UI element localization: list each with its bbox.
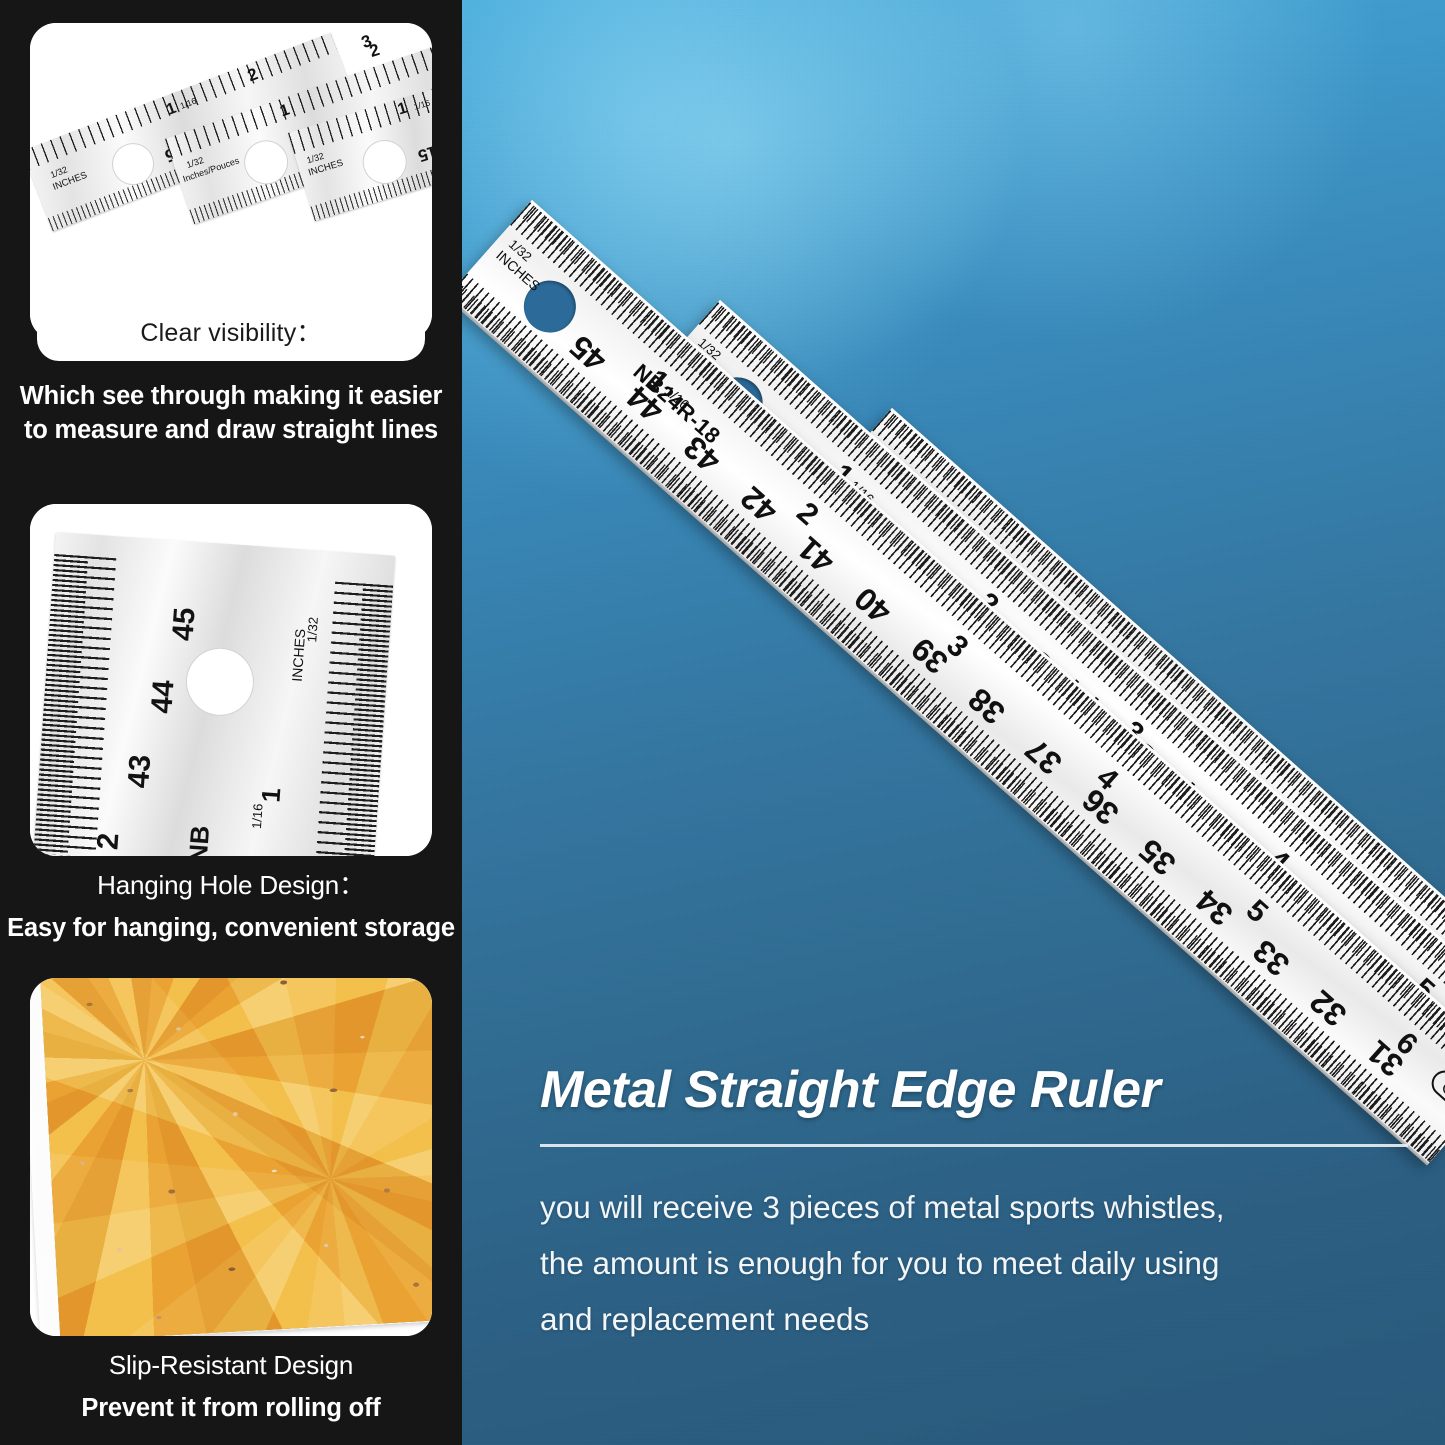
mark-inches: INCHES — [289, 628, 309, 682]
mark-nb: NB — [183, 824, 217, 856]
hero-copy-block: Metal Straight Edge Ruler you will recei… — [540, 1063, 1420, 1347]
feature-line-3: Easy for hanging, convenient storage — [0, 911, 462, 945]
feature-image-card-slip-resistant — [30, 978, 432, 1336]
page-title: Metal Straight Edge Ruler — [540, 1063, 1420, 1118]
hanging-hole-photo: 45 44 43 2 NB 1/32 INCHES 1 1/16 — [30, 504, 432, 856]
mark-1: 1 — [255, 787, 287, 804]
hero-section: 1/32 INCHES STAINLESS STEEL 15 14 13 12 … — [462, 0, 1445, 1445]
cork-backing-photo — [30, 978, 432, 1336]
mark-44: 44 — [145, 679, 181, 715]
hero-ruler-front: 1/32 INCHES NB24R-18 45 44 43 42 41 40 3… — [462, 200, 1445, 1165]
mark-43: 43 — [122, 754, 158, 790]
feature-title-slip-resistant: Slip-Resistant Design — [0, 1348, 462, 1383]
product-infographic: 1/32 INCHES 45 44 1 1/16 2 1/32 — [0, 0, 1445, 1445]
hero-body-line-3: and replacement needs — [540, 1291, 1420, 1347]
feature-line-2: to measure and draw straight lines — [0, 413, 462, 447]
hero-body-line-1: you will receive 3 pieces of metal sport… — [540, 1179, 1420, 1235]
ruler-ends-photo: 1/32 INCHES 45 44 1 1/16 2 1/32 — [30, 23, 432, 340]
caption-clear-visibility: Clear visibility： Which see through maki… — [0, 348, 462, 448]
mark-1-16: 1/16 — [249, 803, 266, 829]
feature-image-card-hanging-hole: 45 44 43 2 NB 1/32 INCHES 1 1/16 — [30, 504, 432, 856]
feature-title-clear-visibility: Clear visibility： — [37, 314, 425, 361]
manufacturer-logo-icon: ◉ — [1426, 1065, 1445, 1111]
cork-strip — [40, 978, 432, 1336]
feature-sidebar: 1/32 INCHES 45 44 1 1/16 2 1/32 — [0, 0, 462, 1445]
feature-image-card-clear-visibility: 1/32 INCHES 45 44 1 1/16 2 1/32 — [30, 23, 432, 340]
mark-42: 2 — [91, 832, 126, 851]
title-divider — [540, 1144, 1408, 1147]
hero-body-line-2: the amount is enough for you to meet dai… — [540, 1235, 1420, 1291]
mark-45: 45 — [166, 606, 202, 642]
feature-line-4: Prevent it from rolling off — [0, 1391, 462, 1425]
hero-description: you will receive 3 pieces of metal sport… — [540, 1179, 1420, 1347]
feature-title-hanging-hole: Hanging Hole Design： — [0, 868, 462, 903]
feature-line-1: Which see through making it easier — [0, 379, 462, 413]
inset-ruler-closeup: 45 44 43 2 NB 1/32 INCHES 1 1/16 — [33, 532, 395, 856]
caption-hanging-hole: Hanging Hole Design： Easy for hanging, c… — [0, 868, 462, 945]
caption-slip-resistant: Slip-Resistant Design Prevent it from ro… — [0, 1348, 462, 1425]
